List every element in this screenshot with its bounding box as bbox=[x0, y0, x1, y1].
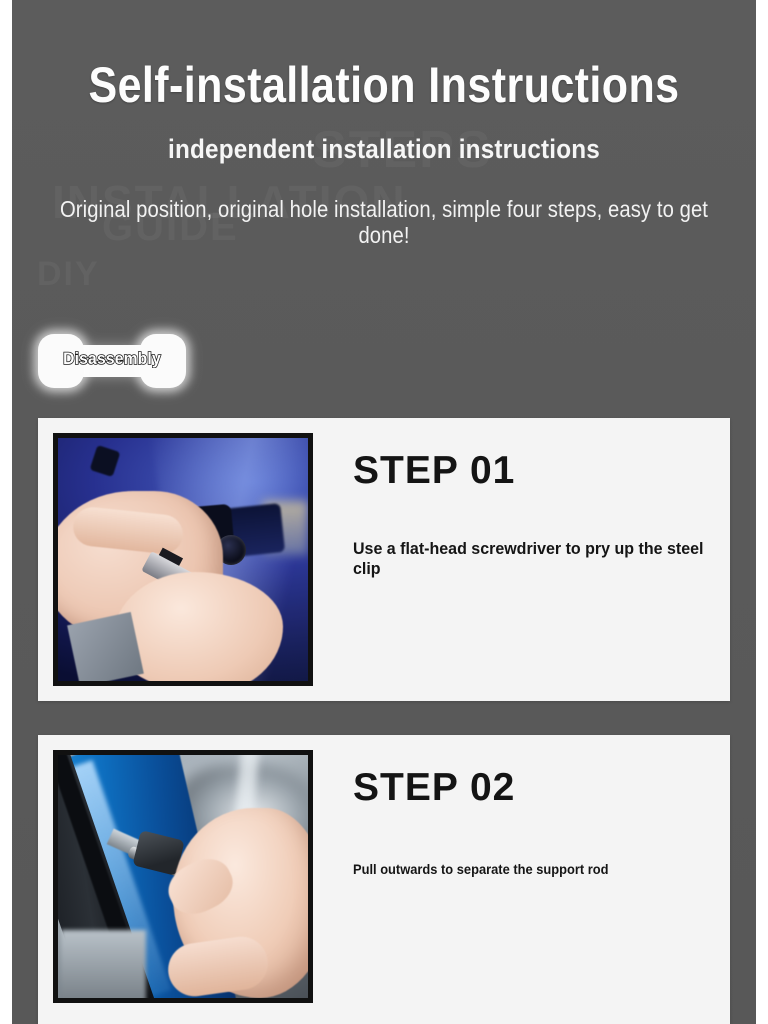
art-sleeve bbox=[67, 612, 144, 681]
step-label: STEP 02 bbox=[353, 766, 715, 810]
step-text-block: STEP 02 Pull outwards to separate the su… bbox=[313, 750, 715, 878]
watermark-text-diy: DIY bbox=[37, 255, 100, 294]
step-thumbnail bbox=[53, 433, 313, 686]
step-image-screwdriver-on-door bbox=[58, 438, 308, 681]
art-glass-edge bbox=[61, 930, 146, 998]
disassembly-badge: Disassembly bbox=[38, 334, 186, 388]
dark-panel: STEPS INSTALLATION GUIDE DIY Self-instal… bbox=[12, 0, 756, 1024]
step-thumbnail bbox=[53, 750, 313, 1003]
step-text-block: STEP 01 Use a flat-head screwdriver to p… bbox=[313, 433, 715, 579]
step-image-pulling-support-rod bbox=[58, 755, 308, 998]
page-title: Self-installation Instructions bbox=[64, 58, 704, 112]
page-header: Self-installation Instructions independe… bbox=[12, 0, 756, 248]
disassembly-badge-label: Disassembly bbox=[44, 349, 180, 369]
step-card: STEP 02 Pull outwards to separate the su… bbox=[38, 735, 730, 1024]
step-card: STEP 01 Use a flat-head screwdriver to p… bbox=[38, 418, 730, 701]
step-label: STEP 01 bbox=[353, 449, 715, 493]
page-tagline: Original position, original hole install… bbox=[57, 196, 712, 248]
instruction-page: STEPS INSTALLATION GUIDE DIY Self-instal… bbox=[0, 0, 768, 1024]
step-description: Pull outwards to separate the support ro… bbox=[353, 860, 686, 878]
step-description: Use a flat-head screwdriver to pry up th… bbox=[353, 539, 704, 579]
page-subtitle: independent installation instructions bbox=[49, 134, 719, 164]
